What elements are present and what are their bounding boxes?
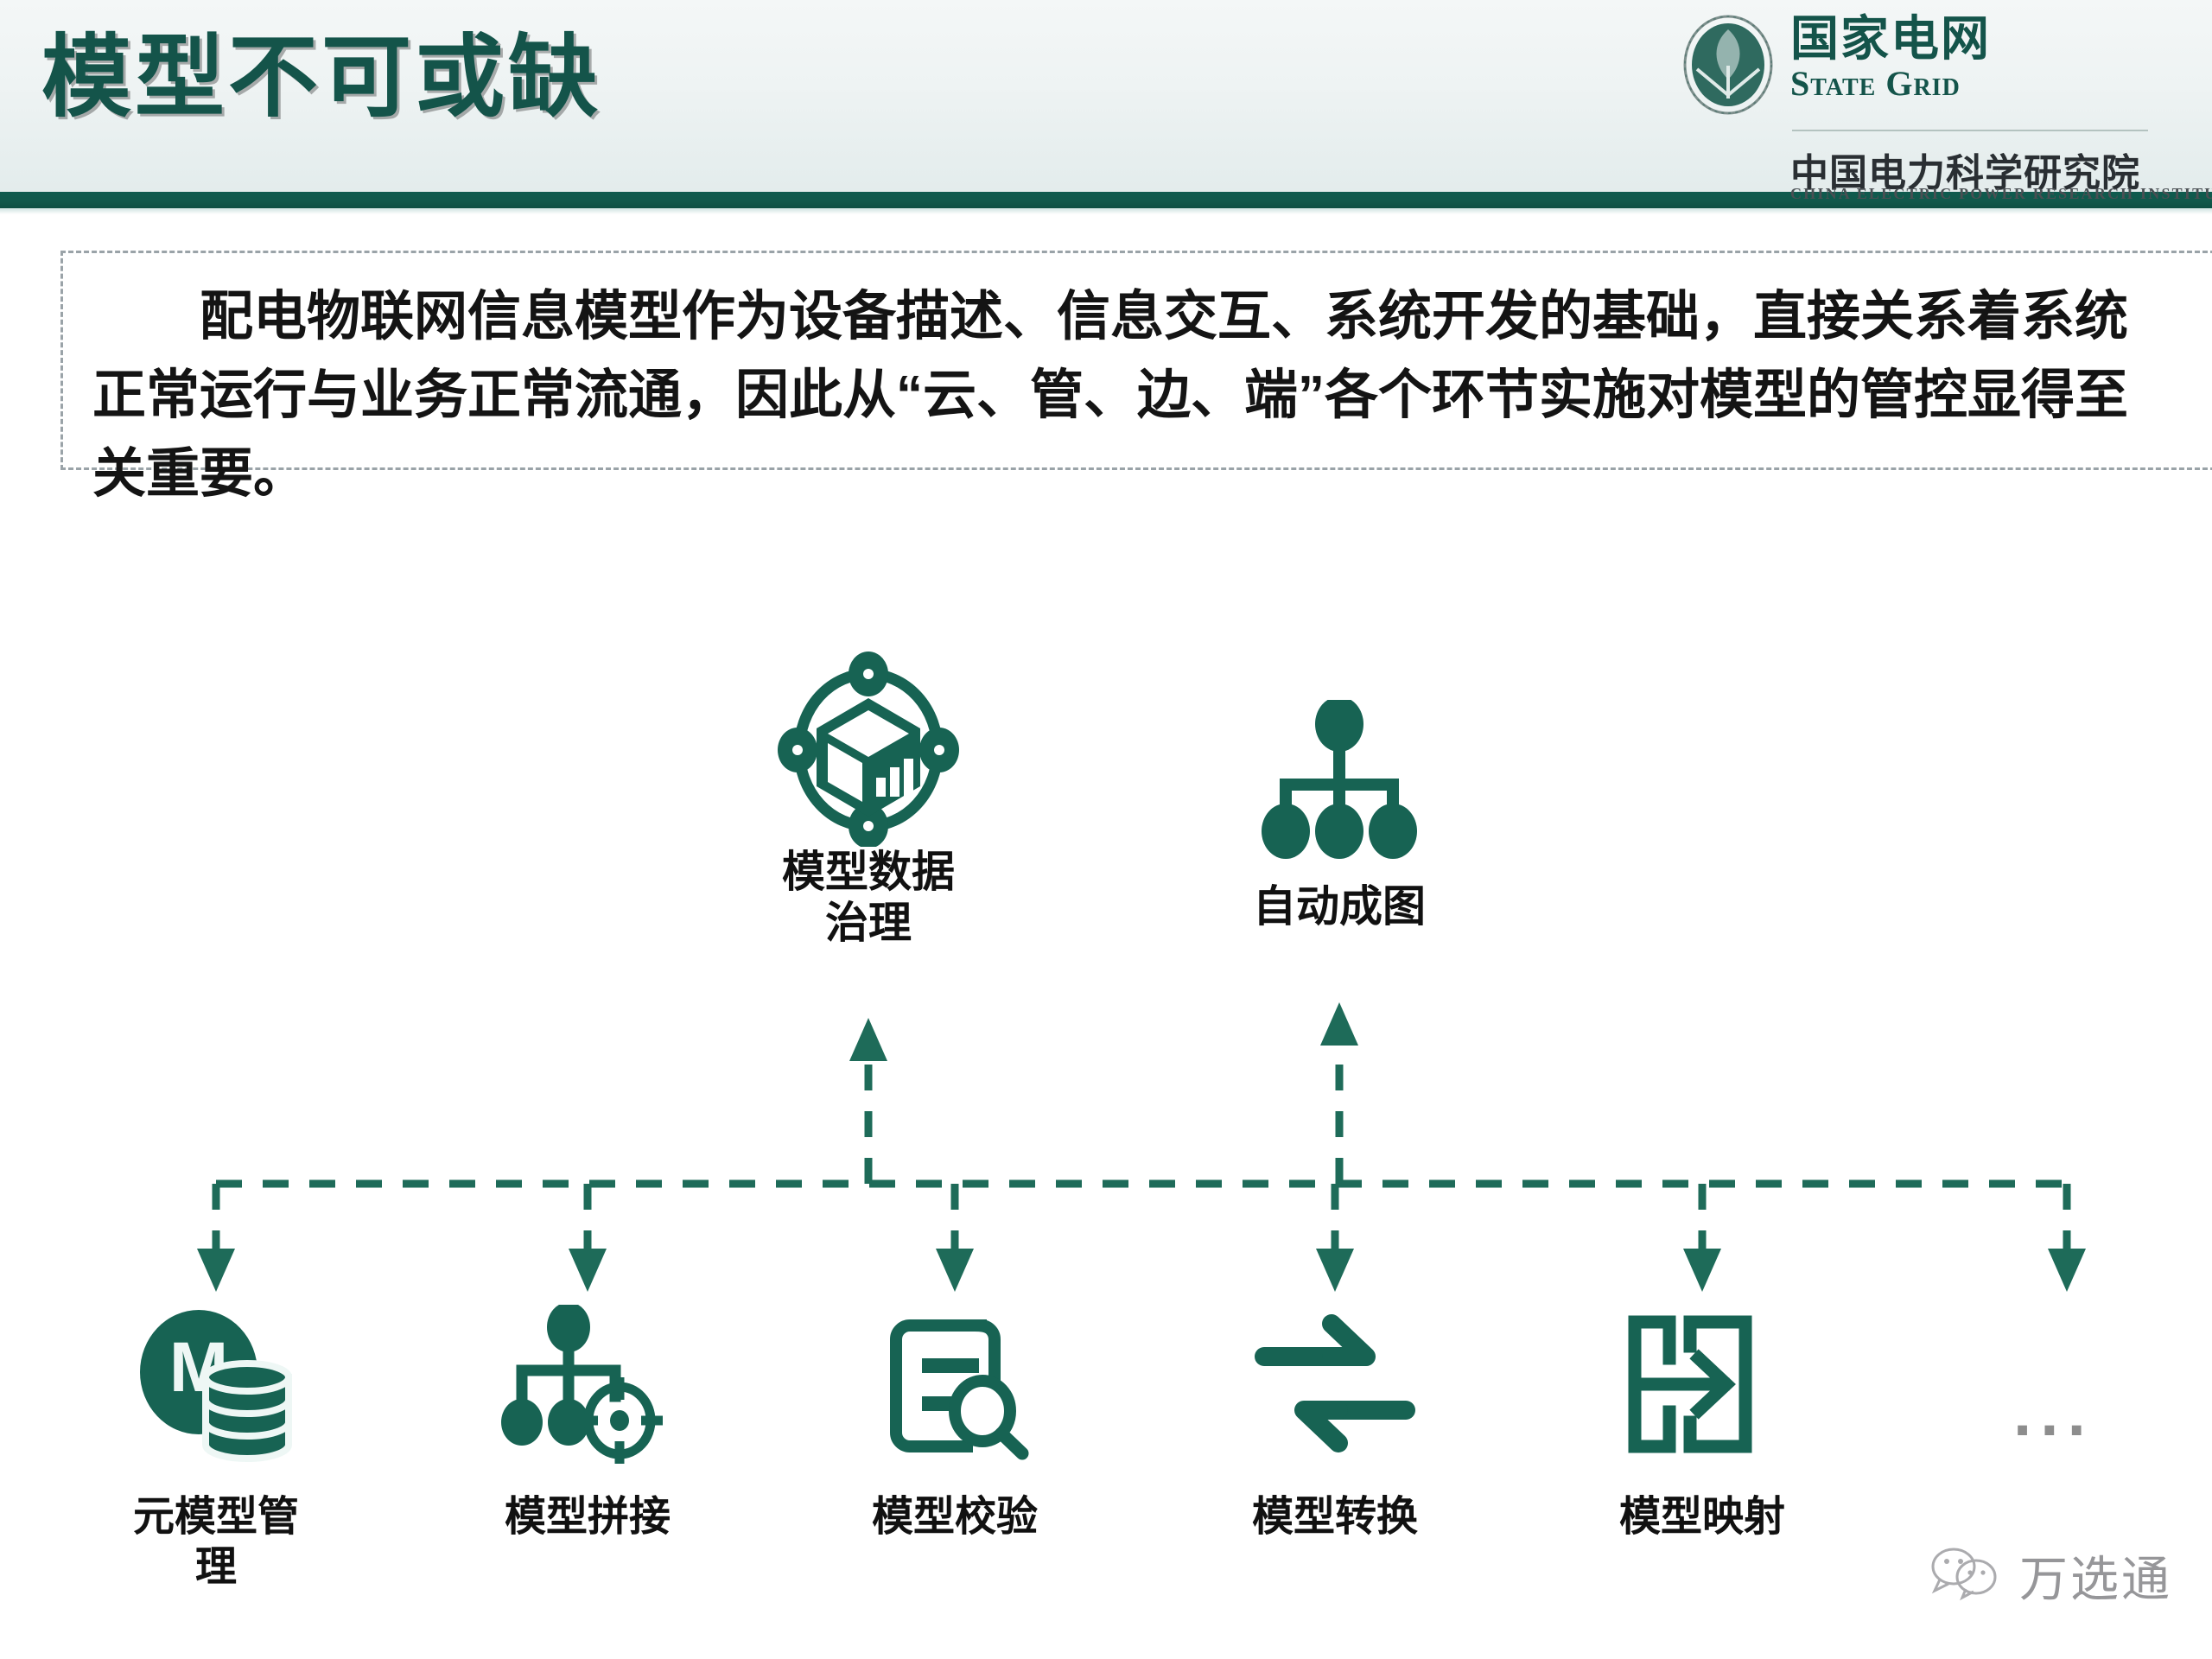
organization-logo: 国家电网 State Grid 中国电力科学研究院 CHINA ELECTRIC… <box>1669 7 2188 199</box>
logo-divider <box>1792 130 2148 131</box>
node-label-line2: 理 <box>35 1542 397 1592</box>
node-label-line1: 模型校验 <box>773 1492 1136 1542</box>
logo-brand-cn: 国家电网 <box>1790 14 2153 65</box>
node-label-line1: 模型转换 <box>1154 1492 1516 1542</box>
node-label-line1: 元模型管 <box>35 1492 397 1542</box>
intro-callout-box: 配电物联网信息模型作为设备描述、信息交互、系统开发的基础，直接关系着系统正常运行… <box>60 251 2212 470</box>
node-label: 元模型管 理 <box>35 1492 397 1592</box>
model-mapping-brackets-arrow-icon <box>1521 1300 1884 1473</box>
diagram-node-model-verification[interactable]: 模型校验 <box>773 1300 1136 1542</box>
model-data-governance-icon <box>670 648 1067 847</box>
diagram-node-auto-diagram[interactable]: 自动成图 <box>1149 683 1529 932</box>
state-grid-emblem-icon <box>1678 12 1778 118</box>
model-verify-document-search-icon <box>773 1300 1136 1473</box>
node-label: 模型映射 <box>1521 1492 1884 1542</box>
node-label-line1: 模型拼接 <box>406 1492 769 1542</box>
auto-diagram-tree-icon <box>1149 683 1529 881</box>
meta-model-database-icon: M <box>35 1300 397 1473</box>
node-label-line1: 模型映射 <box>1521 1492 1884 1542</box>
diagram-node-model-data-governance[interactable]: 模型数据 治理 <box>670 648 1067 949</box>
logo-brand-en: State Grid <box>1790 65 2153 103</box>
model-convert-exchange-arrows-icon <box>1154 1300 1516 1473</box>
diagram-node-meta-model-management[interactable]: M 元模型管 理 <box>35 1300 397 1592</box>
node-label: 模型转换 <box>1154 1492 1516 1542</box>
page-title: 模型不可或缺 <box>41 29 601 126</box>
watermark-text: 万选通 <box>2019 1541 2172 1611</box>
node-label: 模型数据 治理 <box>670 847 1067 949</box>
wechat-chat-bubble-icon <box>1928 1546 2005 1605</box>
diagram-node-model-mapping[interactable]: 模型映射 <box>1521 1300 1884 1542</box>
header-rule-shadow <box>0 208 2212 214</box>
more-items-ellipsis: ··· <box>2013 1398 2094 1464</box>
node-label-line2: 治理 <box>670 898 1067 949</box>
node-label: 自动成图 <box>1149 881 1529 932</box>
logo-institute-en: CHINA ELECTRIC POWER RESEARCH INSTITUTE <box>1790 185 2212 203</box>
watermark: 万选通 <box>1928 1541 2172 1611</box>
node-label: 模型校验 <box>773 1492 1136 1542</box>
model-splice-target-icon <box>406 1300 769 1473</box>
diagram-node-model-conversion[interactable]: 模型转换 <box>1154 1300 1516 1542</box>
intro-paragraph: 配电物联网信息模型作为设备描述、信息交互、系统开发的基础，直接关系着系统正常运行… <box>92 277 2178 513</box>
logo-brand-block: 国家电网 State Grid <box>1790 14 2153 103</box>
node-label-line1: 自动成图 <box>1149 881 1529 932</box>
node-label: 模型拼接 <box>406 1492 769 1542</box>
model-capability-diagram: 模型数据 治理 自 <box>0 657 2212 1659</box>
node-label-line1: 模型数据 <box>670 847 1067 898</box>
diagram-node-model-splice[interactable]: 模型拼接 <box>406 1300 769 1542</box>
